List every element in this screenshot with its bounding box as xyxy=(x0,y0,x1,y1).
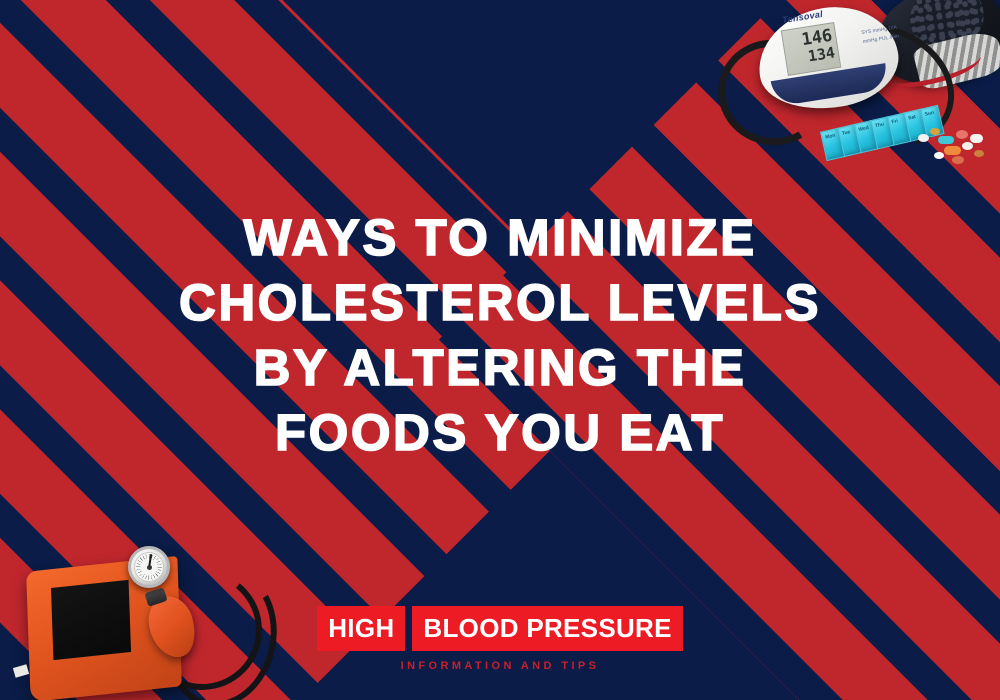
headline: WAYS TO MINIMIZE CHOLESTEROL LEVELS BY A… xyxy=(0,205,1000,465)
pill-2 xyxy=(930,128,940,135)
lcd-diastolic-value: 134 xyxy=(807,45,836,64)
brand-logo: HIGH BLOOD PRESSURE INFORMATION AND TIPS xyxy=(0,606,1000,672)
pill-cell-label: Mon xyxy=(825,133,836,141)
pill-8 xyxy=(952,156,964,164)
pill-cell-label: Sat xyxy=(908,114,917,122)
aneroid-gauge xyxy=(128,546,170,588)
pill-cell-label: Wed xyxy=(858,125,870,133)
pill-9 xyxy=(934,152,944,159)
blood-pressure-monitor-photo: Tensoval 146 134 SYS mmHg DIA mmHg PUL /… xyxy=(710,0,1000,195)
logo-tagline: INFORMATION AND TIPS xyxy=(0,660,1000,672)
logo-boxes: HIGH BLOOD PRESSURE xyxy=(317,606,683,651)
pill-cell-label: Thu xyxy=(874,121,884,129)
pill-cell-label: Fri xyxy=(891,118,899,125)
pill-cell-label: Tue xyxy=(841,129,851,137)
pill-1 xyxy=(918,134,929,142)
pill-10 xyxy=(974,150,984,157)
logo-box-blood-pressure: BLOOD PRESSURE xyxy=(412,606,682,651)
pill-4 xyxy=(944,146,961,155)
gauge-hub xyxy=(147,565,152,570)
logo-box-high: HIGH xyxy=(317,606,405,651)
pill-7 xyxy=(970,134,983,143)
headline-line-1: WAYS TO MINIMIZE xyxy=(0,205,1000,270)
headline-line-2: CHOLESTEROL LEVELS xyxy=(0,270,1000,335)
pill-6 xyxy=(962,142,973,150)
headline-line-3: BY ALTERING THE xyxy=(0,335,1000,400)
monitor-lcd-display: 146 134 xyxy=(781,22,842,76)
banner-root: Tensoval 146 134 SYS mmHg DIA mmHg PUL /… xyxy=(0,0,1000,700)
pill-5 xyxy=(956,130,968,139)
scattered-pills xyxy=(918,126,990,170)
headline-line-4: FOODS YOU EAT xyxy=(0,400,1000,465)
pill-cell-label: Sun xyxy=(924,110,935,118)
pill-3 xyxy=(938,136,954,144)
